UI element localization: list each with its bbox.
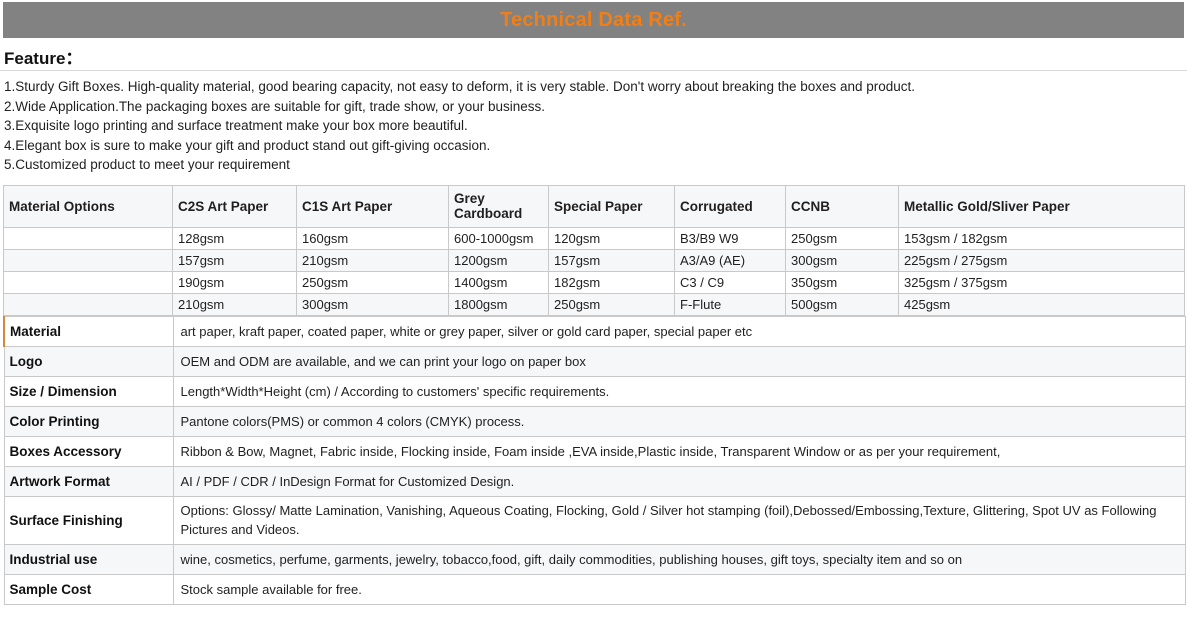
cell: A3/A9 (AE) [675,249,786,271]
cell: 210gsm [297,249,449,271]
column-header-c2s-art-paper: C2S Art Paper [173,185,297,227]
spec-row-surface-finishing: Surface Finishing Options: Glossy/ Matte… [4,496,1185,544]
cell: 190gsm [173,271,297,293]
cell [4,271,173,293]
table-row: 128gsm 160gsm 600-1000gsm 120gsm B3/B9 W… [4,227,1185,249]
cell: 500gsm [786,293,899,315]
table-header-row: Material Options C2S Art Paper C1S Art P… [4,185,1185,227]
spec-value: Length*Width*Height (cm) / According to … [173,376,1185,406]
material-options-table: Material Options C2S Art Paper C1S Art P… [3,185,1185,316]
spec-row-boxes-accessory: Boxes Accessory Ribbon & Bow, Magnet, Fa… [4,436,1185,466]
spec-label: Logo [4,346,173,376]
column-header-corrugated: Corrugated [675,185,786,227]
spec-value: Stock sample available for free. [173,574,1185,604]
cell: 250gsm [549,293,675,315]
spec-row-material: Material art paper, kraft paper, coated … [4,316,1185,346]
title-bar: Technical Data Ref. [3,2,1184,38]
spec-value: art paper, kraft paper, coated paper, wh… [173,316,1185,346]
spec-label: Color Printing [4,406,173,436]
spec-label: Artwork Format [4,466,173,496]
spec-row-sample-cost: Sample Cost Stock sample available for f… [4,574,1185,604]
cell: 1400gsm [449,271,549,293]
cell: 250gsm [786,227,899,249]
cell: 325gsm / 375gsm [899,271,1185,293]
cell: F-Flute [675,293,786,315]
cell: 1800gsm [449,293,549,315]
cell: B3/B9 W9 [675,227,786,249]
spec-row-size-dimension: Size / Dimension Length*Width*Height (cm… [4,376,1185,406]
column-header-ccnb: CCNB [786,185,899,227]
spec-value: OEM and ODM are available, and we can pr… [173,346,1185,376]
feature-item: 5.Customized product to meet your requir… [4,155,1183,175]
column-header-special-paper: Special Paper [549,185,675,227]
feature-item: 1.Sturdy Gift Boxes. High-quality materi… [4,77,1183,97]
column-header-c1s-art-paper: C1S Art Paper [297,185,449,227]
cell [4,249,173,271]
table-row: 210gsm 300gsm 1800gsm 250gsm F-Flute 500… [4,293,1185,315]
feature-item: 4.Elegant box is sure to make your gift … [4,136,1183,156]
feature-item: 2.Wide Application.The packaging boxes a… [4,97,1183,117]
spec-label: Surface Finishing [4,496,173,544]
column-header-material-options: Material Options [4,185,173,227]
spec-label: Material [4,316,173,346]
spec-value: Options: Glossy/ Matte Lamination, Vanis… [173,496,1185,544]
cell: 128gsm [173,227,297,249]
spec-row-industrial-use: Industrial use wine, cosmetics, perfume,… [4,544,1185,574]
spec-label: Sample Cost [4,574,173,604]
column-header-metallic-gold-sliver-paper: Metallic Gold/Sliver Paper [899,185,1185,227]
cell: 210gsm [173,293,297,315]
cell [4,293,173,315]
cell: 600-1000gsm [449,227,549,249]
cell: 157gsm [173,249,297,271]
cell: 350gsm [786,271,899,293]
cell: 300gsm [297,293,449,315]
spec-row-logo: Logo OEM and ODM are available, and we c… [4,346,1185,376]
cell: 120gsm [549,227,675,249]
spec-label: Industrial use [4,544,173,574]
cell: 1200gsm [449,249,549,271]
cell: 300gsm [786,249,899,271]
cell: 425gsm [899,293,1185,315]
spec-value: AI / PDF / CDR / InDesign Format for Cus… [173,466,1185,496]
cell: 157gsm [549,249,675,271]
table-row: 190gsm 250gsm 1400gsm 182gsm C3 / C9 350… [4,271,1185,293]
spec-label: Size / Dimension [4,376,173,406]
cell: 182gsm [549,271,675,293]
spec-value: Ribbon & Bow, Magnet, Fabric inside, Flo… [173,436,1185,466]
cell: 250gsm [297,271,449,293]
feature-label: Feature： [4,49,82,68]
spec-row-artwork-format: Artwork Format AI / PDF / CDR / InDesign… [4,466,1185,496]
feature-heading: Feature： [0,38,1187,71]
technical-data-page: Technical Data Ref. Feature： 1.Sturdy Gi… [0,2,1187,622]
cell: C3 / C9 [675,271,786,293]
page-title: Technical Data Ref. [500,10,687,30]
cell: 160gsm [297,227,449,249]
spec-value: wine, cosmetics, perfume, garments, jewe… [173,544,1185,574]
column-header-grey-cardboard: Grey Cardboard [449,185,549,227]
feature-item: 3.Exquisite logo printing and surface tr… [4,116,1183,136]
cell: 153gsm / 182gsm [899,227,1185,249]
spec-row-color-printing: Color Printing Pantone colors(PMS) or co… [4,406,1185,436]
cell: 225gsm / 275gsm [899,249,1185,271]
cell [4,227,173,249]
feature-list: 1.Sturdy Gift Boxes. High-quality materi… [0,71,1187,181]
spec-label: Boxes Accessory [4,436,173,466]
table-row: 157gsm 210gsm 1200gsm 157gsm A3/A9 (AE) … [4,249,1185,271]
specification-table: Material art paper, kraft paper, coated … [3,316,1186,605]
spec-value: Pantone colors(PMS) or common 4 colors (… [173,406,1185,436]
